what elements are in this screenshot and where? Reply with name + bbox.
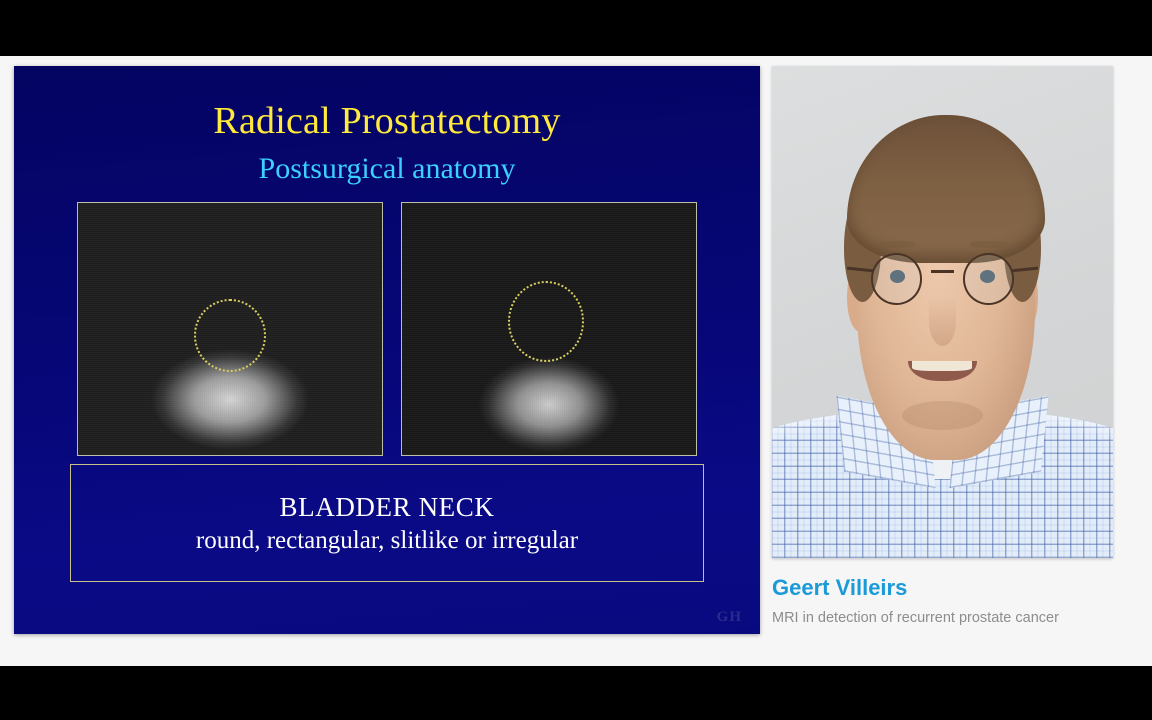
caption-detail: round, rectangular, slitlike or irregula… — [196, 527, 578, 555]
slide-watermark: GH — [717, 609, 742, 626]
mri-image-left[interactable] — [77, 202, 383, 456]
eyebrow-left — [878, 241, 916, 248]
eyebrow-right — [970, 241, 1008, 248]
mri-image-right[interactable] — [401, 202, 697, 456]
presentation-slide[interactable]: Radical Prostatectomy Postsurgical anato… — [14, 66, 760, 634]
roi-annotation-circle-left — [194, 299, 267, 372]
chin-shadow — [902, 401, 984, 431]
speaker-portrait-photo — [772, 66, 1113, 558]
caption-heading: BLADDER NECK — [280, 492, 495, 523]
slide-and-speaker-surface: Radical Prostatectomy Postsurgical anato… — [0, 56, 1152, 666]
letterbox-top-bar — [0, 0, 1152, 56]
slide-subtitle: Postsurgical anatomy — [14, 154, 760, 184]
mri-figure-row — [14, 202, 760, 456]
letterbox-bottom-bar — [0, 666, 1152, 720]
speaker-talk-title: MRI in detection of recurrent prostate c… — [772, 608, 1082, 629]
speaker-panel: Geert Villeirs MRI in detection of recur… — [772, 66, 1113, 662]
eyeglasses-lens-left — [871, 253, 922, 305]
video-player-root: Radical Prostatectomy Postsurgical anato… — [0, 0, 1152, 720]
speaker-name: Geert Villeirs — [772, 576, 1113, 600]
teeth — [912, 361, 972, 371]
eyeglasses-bridge — [931, 270, 955, 273]
slide-title: Radical Prostatectomy — [14, 102, 760, 140]
roi-annotation-circle-right — [508, 281, 584, 362]
slide-caption-box: BLADDER NECK round, rectangular, slitlik… — [70, 464, 704, 582]
eyeglasses-lens-right — [963, 253, 1014, 305]
